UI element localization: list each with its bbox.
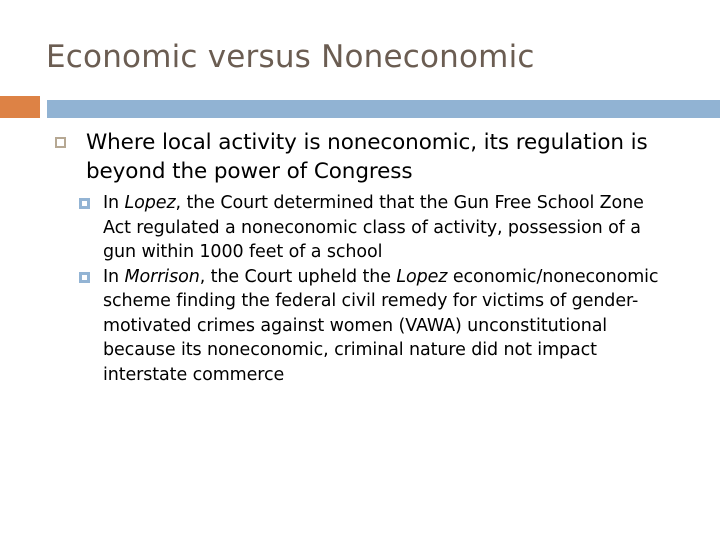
blue-outline-square-bullet-icon	[79, 272, 90, 283]
page-title: Economic versus Noneconomic	[46, 36, 686, 78]
accent-bar-decoration	[47, 100, 720, 118]
slide-canvas: Economic versus Noneconomic Where local …	[0, 0, 720, 540]
accent-block-decoration	[0, 96, 40, 118]
bullet-level1: Where local activity is noneconomic, its…	[0, 128, 720, 186]
content-placeholder: Where local activity is noneconomic, its…	[0, 128, 720, 387]
hollow-square-bullet-icon	[55, 137, 66, 148]
blue-outline-square-bullet-icon	[79, 198, 90, 209]
bullet-level2-text-lopez: In Lopez, the Court determined that the …	[103, 191, 674, 265]
sub-bullet-list: In Lopez, the Court determined that the …	[0, 191, 720, 387]
bullet-level1-text: Where local activity is noneconomic, its…	[86, 128, 686, 186]
bullet-level2-text-morrison: In Morrison, the Court upheld the Lopez …	[103, 265, 674, 388]
title-placeholder: Economic versus Noneconomic	[46, 36, 686, 92]
list-item: In Morrison, the Court upheld the Lopez …	[0, 265, 720, 388]
list-item: In Lopez, the Court determined that the …	[0, 191, 720, 265]
